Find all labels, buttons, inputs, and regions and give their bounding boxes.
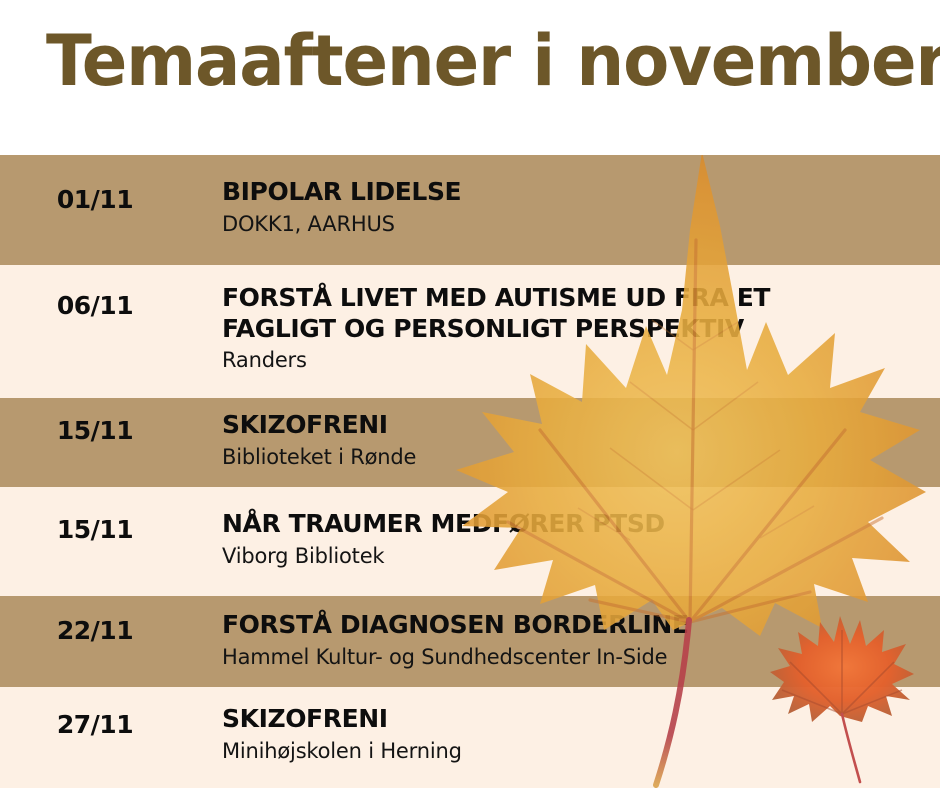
page-title: Temaaftener i november — [46, 26, 940, 96]
schedule-row: 15/11 NÅR TRAUMER MEDFØRER PTSD Viborg B… — [0, 487, 940, 596]
schedule-row: 01/11 BIPOLAR LIDELSE DOKK1, AARHUS — [0, 155, 940, 265]
schedule-row: 06/11 FORSTÅ LIVET MED AUTISME UD FRA ET… — [0, 265, 940, 398]
schedule-row: 22/11 FORSTÅ DIAGNOSEN BORDERLINE Hammel… — [0, 596, 940, 687]
row-title: FORSTÅ DIAGNOSEN BORDERLINE — [222, 610, 930, 641]
poster-canvas: 01/11 BIPOLAR LIDELSE DOKK1, AARHUS 06/1… — [0, 0, 940, 788]
row-body: SKIZOFRENI Biblioteket i Rønde — [222, 410, 930, 470]
row-title: SKIZOFRENI — [222, 410, 930, 441]
row-venue: Biblioteket i Rønde — [222, 444, 930, 470]
row-venue: Minihøjskolen i Herning — [222, 738, 930, 764]
poster-header: Temaaftener i november — [0, 0, 940, 155]
row-body: NÅR TRAUMER MEDFØRER PTSD Viborg Bibliot… — [222, 509, 930, 569]
row-venue: Viborg Bibliotek — [222, 543, 930, 569]
schedule-row: 27/11 SKIZOFRENI Minihøjskolen i Herning — [0, 687, 940, 788]
row-venue: Hammel Kultur- og Sundhedscenter In-Side — [222, 644, 930, 670]
row-body: FORSTÅ DIAGNOSEN BORDERLINE Hammel Kultu… — [222, 610, 930, 670]
row-date: 27/11 — [0, 710, 190, 739]
row-date: 15/11 — [0, 515, 190, 544]
row-body: SKIZOFRENI Minihøjskolen i Herning — [222, 704, 930, 764]
row-venue: Randers — [222, 347, 930, 373]
row-title: FORSTÅ LIVET MED AUTISME UD FRA ET FAGLI… — [222, 283, 930, 344]
row-title: SKIZOFRENI — [222, 704, 930, 735]
row-date: 22/11 — [0, 616, 190, 645]
row-date: 01/11 — [0, 185, 190, 214]
schedule-list: 01/11 BIPOLAR LIDELSE DOKK1, AARHUS 06/1… — [0, 155, 940, 788]
row-body: FORSTÅ LIVET MED AUTISME UD FRA ET FAGLI… — [222, 283, 930, 373]
row-date: 15/11 — [0, 416, 190, 445]
row-date: 06/11 — [0, 291, 190, 320]
schedule-row: 15/11 SKIZOFRENI Biblioteket i Rønde — [0, 398, 940, 487]
row-title: NÅR TRAUMER MEDFØRER PTSD — [222, 509, 930, 540]
row-venue: DOKK1, AARHUS — [222, 211, 930, 237]
row-body: BIPOLAR LIDELSE DOKK1, AARHUS — [222, 177, 930, 237]
row-title: BIPOLAR LIDELSE — [222, 177, 930, 208]
